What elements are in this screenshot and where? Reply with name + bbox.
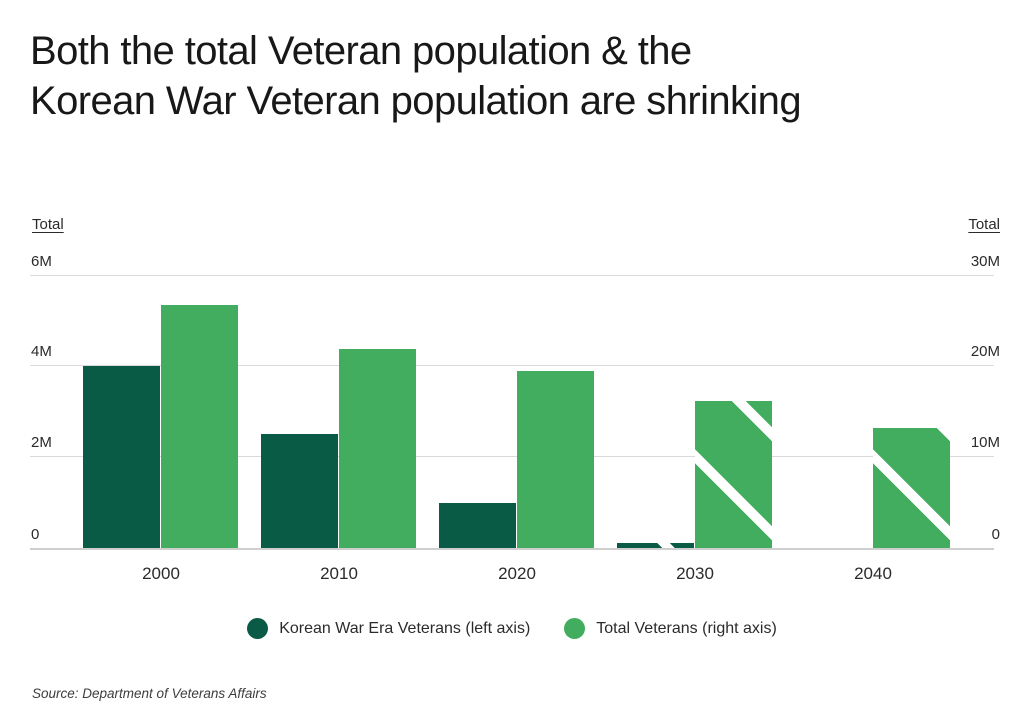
gridline-6m	[30, 275, 994, 276]
bar-korean-2020[interactable]	[439, 503, 516, 549]
bar-korean-2030[interactable]	[617, 543, 694, 548]
x-label-2040: 2040	[793, 564, 953, 584]
left-tick-0: 0	[31, 527, 39, 548]
bar-total-2040[interactable]	[873, 428, 950, 548]
right-tick-0: 0	[992, 527, 1000, 548]
right-tick-10m: 10M	[971, 435, 1000, 456]
left-axis-header: Total	[32, 216, 64, 233]
left-tick-2m: 2M	[31, 435, 52, 456]
bar-korean-2010[interactable]	[261, 434, 338, 548]
chart-plot-area: Total Total 6M 4M 2M 0 30M 20M 10M 0 200…	[0, 0, 1024, 715]
right-axis-header: Total	[968, 216, 1000, 233]
x-label-2020: 2020	[437, 564, 597, 584]
legend-label-total: Total Veterans (right axis)	[596, 620, 777, 638]
left-tick-6m: 6M	[31, 254, 52, 275]
x-label-2030: 2030	[615, 564, 775, 584]
legend-item-korean-war-era-veterans[interactable]: Korean War Era Veterans (left axis)	[247, 618, 530, 639]
bar-total-2020[interactable]	[517, 371, 594, 548]
legend-swatch-circle-icon	[247, 618, 268, 639]
axis-baseline	[30, 548, 994, 550]
legend-label-korean: Korean War Era Veterans (left axis)	[279, 620, 530, 638]
source-note: Source: Department of Veterans Affairs	[32, 686, 267, 701]
legend-item-total-veterans[interactable]: Total Veterans (right axis)	[564, 618, 777, 639]
x-label-2000: 2000	[81, 564, 241, 584]
bar-total-2010[interactable]	[339, 349, 416, 548]
right-tick-30m: 30M	[971, 254, 1000, 275]
bar-korean-2000[interactable]	[83, 366, 160, 548]
legend-swatch-circle-icon	[564, 618, 585, 639]
x-label-2010: 2010	[259, 564, 419, 584]
right-tick-20m: 20M	[971, 344, 1000, 365]
left-tick-4m: 4M	[31, 344, 52, 365]
bar-total-2000[interactable]	[161, 305, 238, 548]
bar-total-2030[interactable]	[695, 401, 772, 548]
chart-legend: Korean War Era Veterans (left axis) Tota…	[0, 618, 1024, 639]
